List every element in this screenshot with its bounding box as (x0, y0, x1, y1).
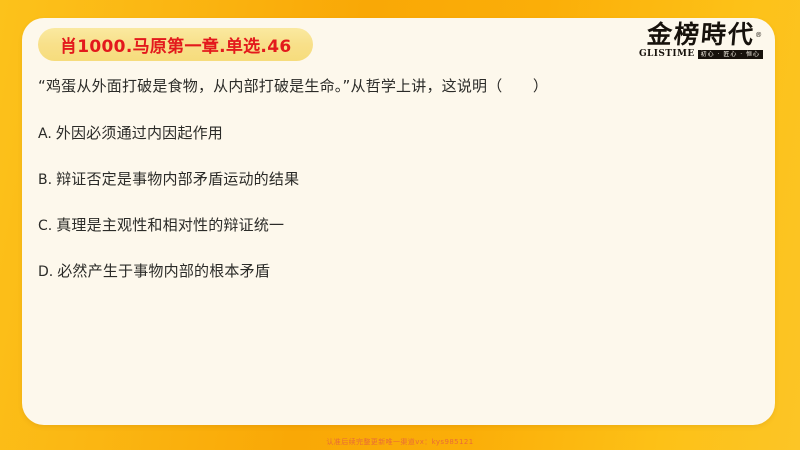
registered-trademark-icon: ® (754, 20, 766, 50)
brand-logo-subline: GLISTIME 初心 · 匠心 · 恒心 (639, 49, 763, 59)
option-letter-a: A. (38, 126, 52, 142)
option-row-b[interactable]: B. 辩证否定是事物内部矛盾运动的结果 (38, 167, 755, 191)
title-badge: 肖1000.马原第一章.单选.46 (38, 28, 313, 61)
option-letter-d: D. (38, 264, 53, 280)
brand-logo-chinese-text: 金榜時代 (646, 20, 757, 49)
brand-logo: 金榜時代 ® GLISTIME 初心 · 匠心 · 恒心 (637, 20, 765, 72)
question-body: “鸡蛋从外面打破是食物，从内部打破是生命。”从哲学上讲，这说明（ ） A. 外因… (38, 73, 755, 305)
question-stem: “鸡蛋从外面打破是食物，从内部打破是生命。”从哲学上讲，这说明（ ） (38, 73, 755, 99)
slide-canvas: 肖1000.马原第一章.单选.46 金榜時代 ® GLISTIME 初心 · 匠… (0, 0, 800, 450)
option-text-b: 辩证否定是事物内部矛盾运动的结果 (56, 167, 299, 191)
option-row-c[interactable]: C. 真理是主观性和相对性的辩证统一 (38, 213, 755, 237)
brand-logo-english: GLISTIME (639, 49, 695, 59)
title-badge-label: 肖1000.马原第一章.单选.46 (60, 32, 291, 57)
option-letter-b: B. (38, 172, 52, 188)
option-text-c: 真理是主观性和相对性的辩证统一 (56, 213, 284, 237)
option-text-a: 外因必须通过内因起作用 (56, 121, 223, 145)
brand-logo-tagline: 初心 · 匠心 · 恒心 (698, 50, 763, 59)
option-row-d[interactable]: D. 必然产生于事物内部的根本矛盾 (38, 259, 755, 283)
brand-logo-chinese: 金榜時代 ® (646, 20, 757, 50)
option-letter-c: C. (38, 218, 52, 234)
question-card: 肖1000.马原第一章.单选.46 金榜時代 ® GLISTIME 初心 · 匠… (22, 18, 775, 425)
option-row-a[interactable]: A. 外因必须通过内因起作用 (38, 121, 755, 145)
footer-watermark: 认准后续完整更新唯一渠道vx：kys985121 (0, 437, 800, 447)
option-text-d: 必然产生于事物内部的根本矛盾 (57, 259, 270, 283)
